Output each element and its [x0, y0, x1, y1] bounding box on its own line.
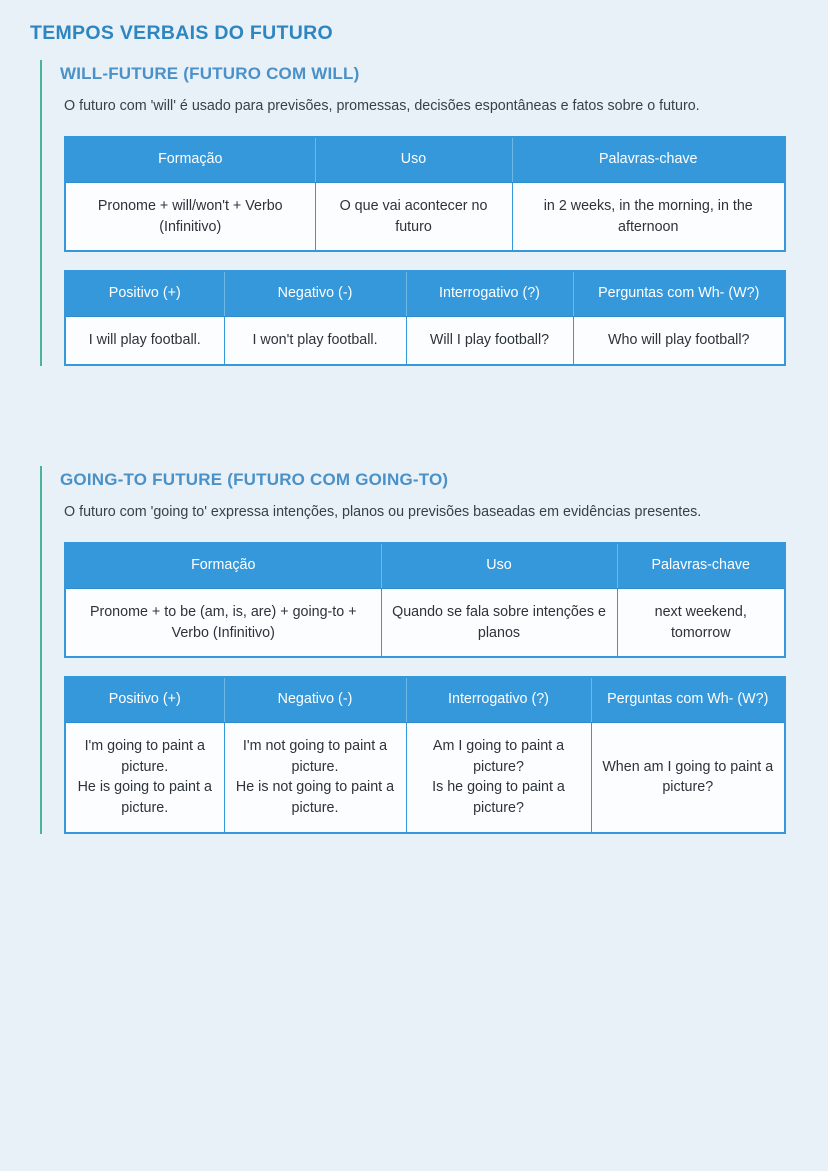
column-header-negativo: Negativo (-): [224, 271, 406, 316]
cell-wh-questions: When am I going to paint a picture?: [591, 723, 785, 833]
column-header-positivo: Positivo (+): [65, 271, 224, 316]
page-title: TEMPOS VERBAIS DO FUTURO: [30, 22, 333, 45]
cell-positivo: I will play football.: [65, 317, 224, 365]
cell-negativo: I'm not going to paint a picture. He is …: [224, 723, 406, 833]
table-wrapper-will-formation: Formação Uso Palavras-chave Pronome + wi…: [60, 118, 788, 252]
column-header-uso: Uso: [315, 137, 512, 182]
table-row: Pronome + will/won't + Verbo (Infinitivo…: [65, 182, 785, 251]
cell-interrogativo: Will I play football?: [406, 317, 573, 365]
column-header-negativo: Negativo (-): [224, 677, 406, 722]
column-header-positivo: Positivo (+): [65, 677, 224, 722]
table-row: I'm going to paint a picture. He is goin…: [65, 723, 785, 833]
section-description-will-future: O futuro com 'will' é usado para previsõ…: [60, 88, 782, 118]
cell-interrogativo: Am I going to paint a picture? Is he goi…: [406, 723, 591, 833]
section-title-will-future: WILL-FUTURE (FUTURO COM WILL): [60, 60, 788, 84]
table-will-formation: Formação Uso Palavras-chave Pronome + wi…: [64, 136, 786, 252]
section-description-going-to-future: O futuro com 'going to' expressa intençõ…: [60, 494, 782, 524]
column-header-palavras-chave: Palavras-chave: [617, 543, 785, 588]
table-wrapper-going-forms: Positivo (+) Negativo (-) Interrogativo …: [60, 658, 788, 834]
column-header-formacao: Formação: [65, 543, 381, 588]
table-header-row: Positivo (+) Negativo (-) Interrogativo …: [65, 271, 785, 316]
table-wrapper-going-formation: Formação Uso Palavras-chave Pronome + to…: [60, 524, 788, 658]
table-going-to-forms: Positivo (+) Negativo (-) Interrogativo …: [64, 676, 786, 834]
cell-palavras-chave: in 2 weeks, in the morning, in the after…: [512, 182, 785, 251]
column-header-interrogativo: Interrogativo (?): [406, 677, 591, 722]
column-header-formacao: Formação: [65, 137, 315, 182]
section-going-to-future: GOING-TO FUTURE (FUTURO COM GOING-TO) O …: [40, 466, 788, 834]
table-wrapper-will-forms: Positivo (+) Negativo (-) Interrogativo …: [60, 252, 788, 365]
cell-uso: O que vai acontecer no futuro: [315, 182, 512, 251]
cell-palavras-chave: next weekend, tomorrow: [617, 588, 785, 657]
table-row: Pronome + to be (am, is, are) + going-to…: [65, 588, 785, 657]
cell-formacao: Pronome + will/won't + Verbo (Infinitivo…: [65, 182, 315, 251]
column-header-palavras-chave: Palavras-chave: [512, 137, 785, 182]
column-header-uso: Uso: [381, 543, 617, 588]
table-row: I will play football. I won't play footb…: [65, 317, 785, 365]
table-going-to-formation: Formação Uso Palavras-chave Pronome + to…: [64, 542, 786, 658]
column-header-wh-questions: Perguntas com Wh- (W?): [591, 677, 785, 722]
cell-formacao: Pronome + to be (am, is, are) + going-to…: [65, 588, 381, 657]
section-will-future: WILL-FUTURE (FUTURO COM WILL) O futuro c…: [40, 60, 788, 366]
cell-negativo: I won't play football.: [224, 317, 406, 365]
column-header-interrogativo: Interrogativo (?): [406, 271, 573, 316]
cell-positivo: I'm going to paint a picture. He is goin…: [65, 723, 224, 833]
table-will-forms: Positivo (+) Negativo (-) Interrogativo …: [64, 270, 786, 365]
table-header-row: Formação Uso Palavras-chave: [65, 137, 785, 182]
section-title-going-to-future: GOING-TO FUTURE (FUTURO COM GOING-TO): [60, 466, 788, 490]
table-header-row: Positivo (+) Negativo (-) Interrogativo …: [65, 677, 785, 722]
cell-uso: Quando se fala sobre intenções e planos: [381, 588, 617, 657]
table-header-row: Formação Uso Palavras-chave: [65, 543, 785, 588]
column-header-wh-questions: Perguntas com Wh- (W?): [573, 271, 785, 316]
cell-wh-questions: Who will play football?: [573, 317, 785, 365]
